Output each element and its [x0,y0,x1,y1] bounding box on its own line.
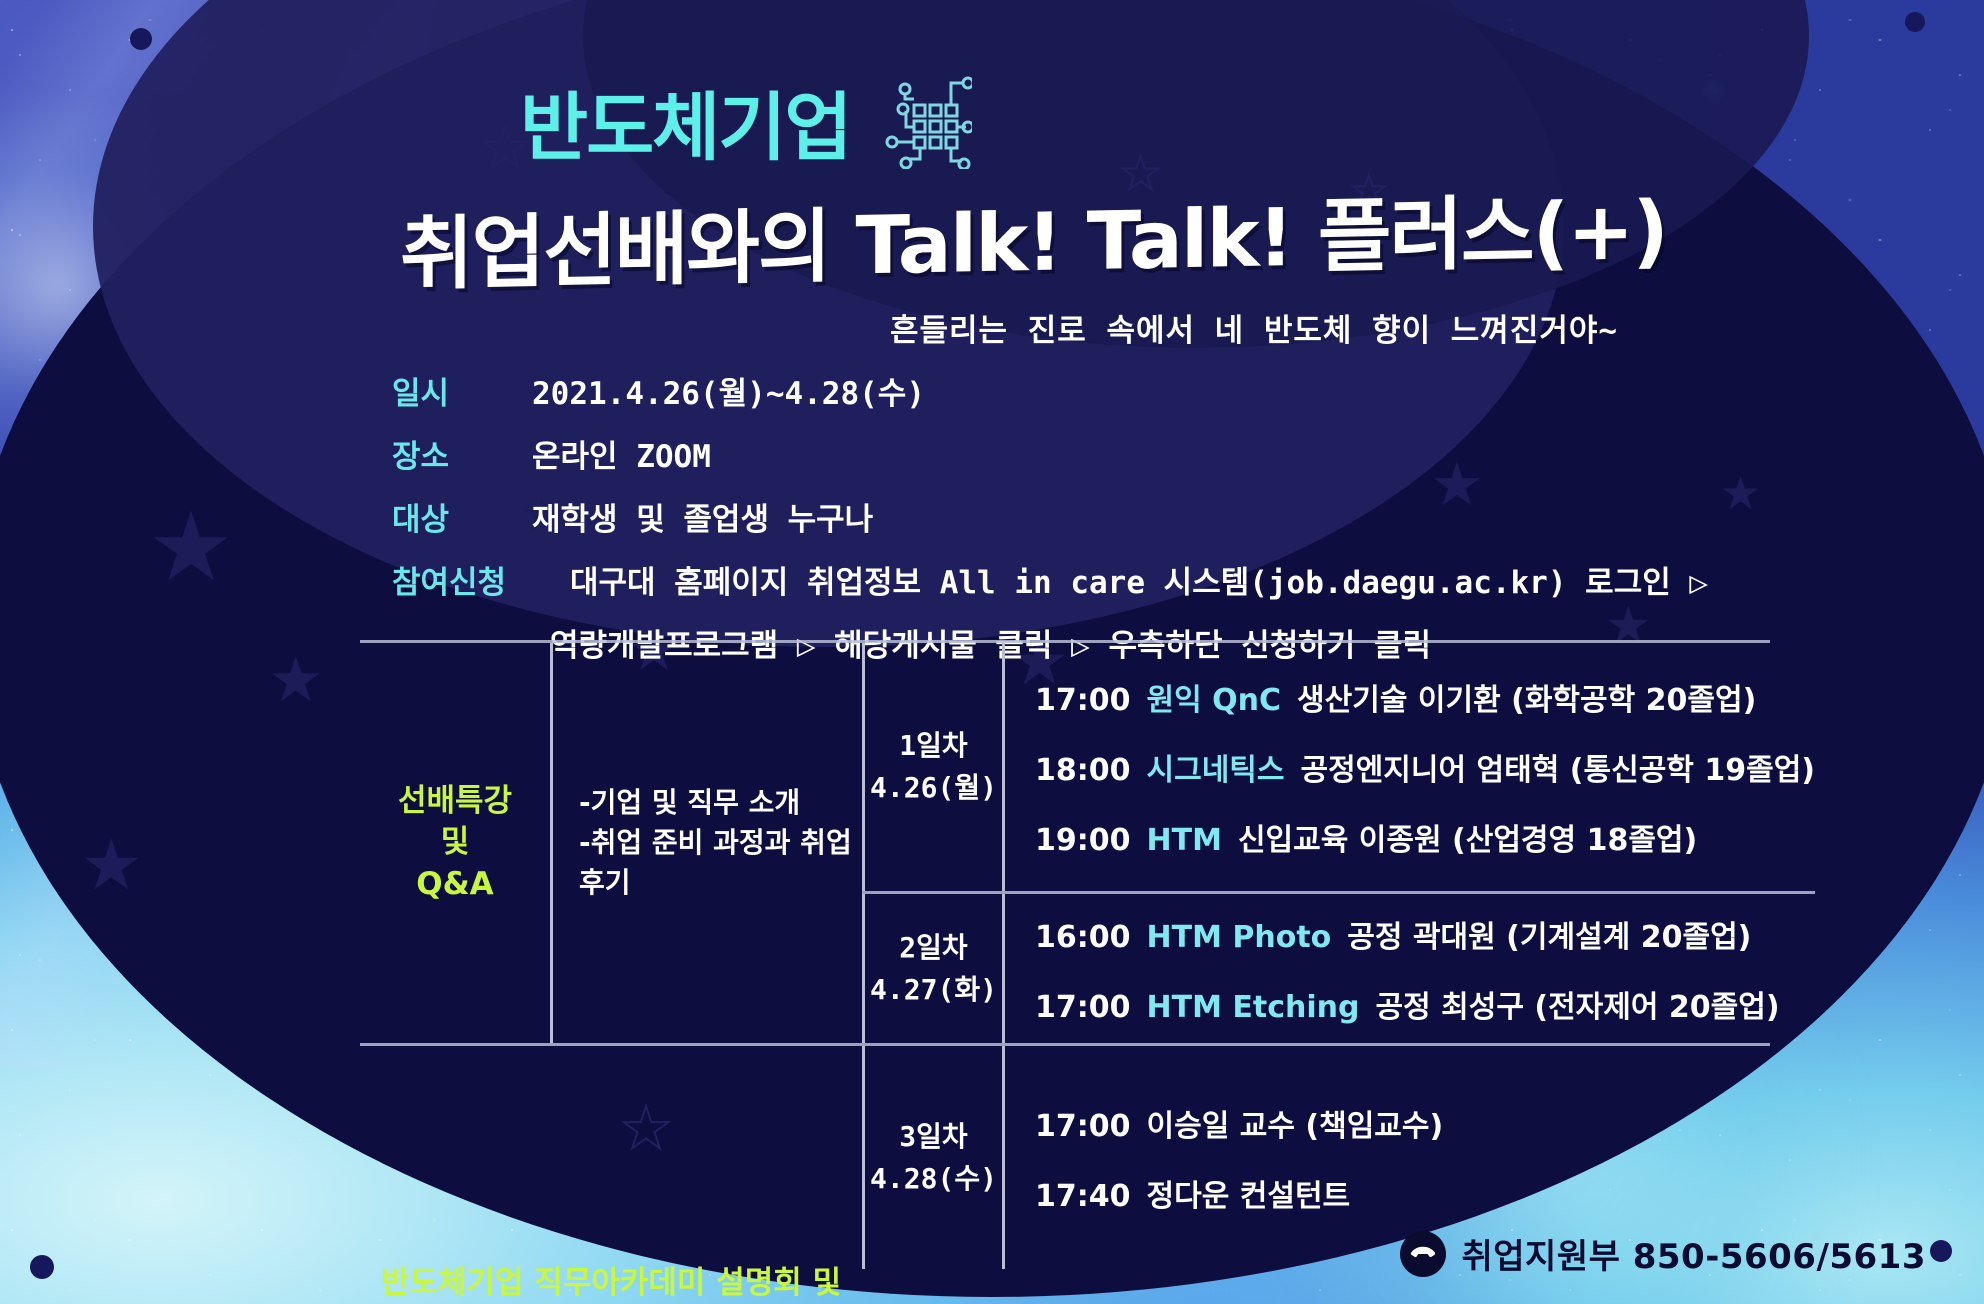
desc-line: -기업 및 직무 소개 [579,783,862,823]
event-info-block: 일시 2021.4.26(월)~4.28(수) 장소 온라인 ZOOM 대상 재… [392,368,1708,665]
session-time: 17:00 [1035,683,1131,718]
tagline: 흔들리는 진로 속에서 네 반도체 향이 느껴진거야~ [890,305,1618,350]
day-label: 2일차 [899,927,967,969]
schedule-table: 선배특강 및 Q&A -기업 및 직무 소개 -취업 준비 과정과 취업 후기 … [360,640,1770,1304]
info-row-apply: 참여신청 대구대 홈페이지 취업정보 All in care 시스템(job.d… [392,557,1708,602]
table-row: 16:00 HTM Photo 공정 곽대원 (기계설계 20졸업) [1035,912,1815,956]
info-value: 온라인 ZOOM [532,431,711,476]
info-value: 재학생 및 졸업생 누구나 [532,494,873,539]
session-org: 원익 QnC [1147,675,1282,719]
session-time: 18:00 [1035,753,1131,788]
day-date: 4.27(화) [870,969,997,1011]
table-cell-day: 3일차 4.28(수) [862,1046,1002,1269]
support-left-column: 반도체기업 직무아카데미 설명회 및 Q&A 취업지원 프로그램 -대학일자리센… [360,1046,862,1304]
session-time: 17:00 [1035,990,1131,1025]
page-title: 취업선배와의 Talk! Talk! 플러스(+) [400,166,1667,306]
info-row-date: 일시 2021.4.26(월)~4.28(수) [392,368,1708,413]
session-detail: 공정엔지니어 엄태혁 (통신공학 19졸업) [1301,745,1816,789]
poster-root: ★ ★ ★ ★ ★ ★ ★ ★ ★ ★ ★ ★ ★ ★ 반도체기업 [0,0,1984,1304]
table-row: 19:00 HTM 신입교육 이종원 (산업경영 18졸업) [1035,815,1815,859]
table-row: 17:00 원익 QnC 생산기술 이기환 (화학공학 20졸업) [1035,675,1815,719]
day-groups: 1일차 4.26(월) 17:00 원익 QnC 생산기술 이기환 (화학공학 … [862,643,1815,1043]
table-row: 17:00 HTM Etching 공정 최성구 (전자제어 20졸업) [1035,982,1815,1026]
title-row: 반도체기업 [520,68,972,175]
day-label: 3일차 [899,1116,967,1158]
table-row: 17:40 정다운 컨설턴트 [1035,1171,1770,1215]
poster-content: 반도체기업 [0,0,1984,1304]
info-label: 일시 [392,368,532,413]
table-row-day1: 1일차 4.26(월) 17:00 원익 QnC 생산기술 이기환 (화학공학 … [862,643,1815,891]
info-row-place: 장소 온라인 ZOOM [392,431,1708,476]
session-detail: 생산기술 이기환 (화학공학 20졸업) [1297,675,1756,719]
session-detail: 공정 최성구 (전자제어 20졸업) [1375,982,1779,1026]
info-label: 대상 [392,494,532,539]
session-time: 17:00 [1035,1109,1131,1144]
desc-line: -취업 준비 과정과 취업 후기 [579,823,862,903]
session-list: 17:00 원익 QnC 생산기술 이기환 (화학공학 20졸업) 18:00 … [1002,643,1815,891]
table-cell-category: 선배특강 및 Q&A [360,643,550,1043]
session-detail: 공정 곽대원 (기계설계 20졸업) [1347,912,1751,956]
table-cell-academy-header: 반도체기업 직무아카데미 설명회 및 Q&A [360,1046,862,1304]
table-top-rule [360,640,1770,643]
session-org: HTM Etching [1147,990,1360,1025]
eyebrow-title: 반도체기업 [520,68,850,175]
table-cell-description: -기업 및 직무 소개 -취업 준비 과정과 취업 후기 [550,643,862,1043]
footer-contact: 취업지원부 850-5606/5613 [1400,1229,1927,1278]
session-time: 17:40 [1035,1179,1131,1214]
session-detail: 정다운 컨설턴트 [1147,1171,1351,1215]
session-list: 16:00 HTM Photo 공정 곽대원 (기계설계 20졸업) 17:00… [1002,894,1815,1043]
session-detail: 신입교육 이종원 (산업경영 18졸업) [1238,815,1697,859]
day-label: 1일차 [899,725,967,767]
info-value: 대구대 홈페이지 취업정보 All in care 시스템(job.daegu.… [570,557,1708,602]
block-divider-rule [360,1043,1770,1046]
day-divider-rule [862,891,1815,894]
session-time: 19:00 [1035,823,1131,858]
category-line: Q&A [398,864,512,906]
day-date: 4.26(월) [870,767,997,809]
table-row-day2: 2일차 4.27(화) 16:00 HTM Photo 공정 곽대원 (기계설계… [862,894,1815,1043]
session-org: HTM Photo [1147,920,1332,955]
table-cell-day: 1일차 4.26(월) [862,643,1002,891]
table-row: 18:00 시그네틱스 공정엔지니어 엄태혁 (통신공학 19졸업) [1035,745,1815,789]
session-detail: 이승일 교수 (책임교수) [1147,1101,1444,1145]
category-line: 선배특강 [398,781,512,823]
table-row: 17:00 이승일 교수 (책임교수) [1035,1101,1770,1145]
day-date: 4.28(수) [870,1158,997,1200]
phone-icon [1400,1231,1446,1277]
info-value: 2021.4.26(월)~4.28(수) [532,368,925,413]
info-row-audience: 대상 재학생 및 졸업생 누구나 [392,494,1708,539]
session-org: HTM [1147,823,1222,858]
table-cell-day: 2일차 4.27(화) [862,894,1002,1043]
info-label: 참여신청 [392,557,570,602]
session-time: 16:00 [1035,920,1131,955]
category-line: 및 [398,822,512,864]
session-org: 시그네틱스 [1147,745,1285,789]
info-label: 장소 [392,431,532,476]
circuit-chip-icon [876,69,972,174]
footer-text: 취업지원부 850-5606/5613 [1462,1229,1927,1278]
schedule-block-mentor: 선배특강 및 Q&A -기업 및 직무 소개 -취업 준비 과정과 취업 후기 … [360,643,1770,1043]
